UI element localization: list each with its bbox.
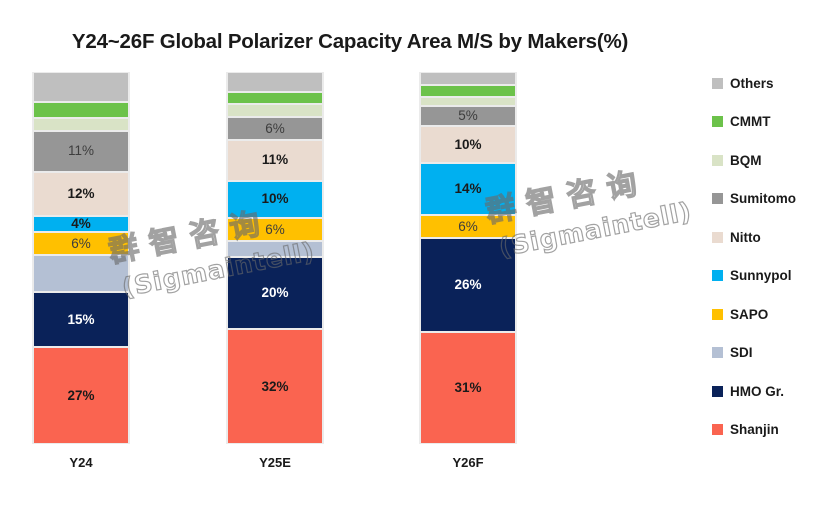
legend-label: Sunnypol — [730, 268, 792, 283]
bar-stack[interactable]: 27%15%6%4%12%11% — [32, 72, 130, 444]
legend-label: Nitto — [730, 230, 761, 245]
legend-swatch-icon — [712, 78, 723, 89]
bar-segment[interactable]: 26% — [419, 238, 517, 332]
bar-group-y24: 27%15%6%4%12%11% — [32, 72, 130, 444]
legend-item[interactable]: SAPO — [712, 295, 796, 334]
legend-swatch-icon — [712, 347, 723, 358]
bar-segment[interactable]: 15% — [32, 292, 130, 347]
bar-segment-value: 6% — [265, 223, 285, 237]
bar-segment-value: 5% — [458, 109, 478, 123]
bar-segment-value: 4% — [71, 217, 91, 231]
legend-swatch-icon — [712, 155, 723, 166]
legend-label: SAPO — [730, 307, 768, 322]
legend-label: BQM — [730, 153, 762, 168]
bar-segment-value: 14% — [454, 182, 481, 196]
legend-swatch-icon — [712, 193, 723, 204]
bar-segment-value: 27% — [67, 389, 94, 403]
bar-segment-value: 31% — [454, 381, 481, 395]
legend-item[interactable]: Sumitomo — [712, 180, 796, 219]
bar-segment[interactable]: 32% — [226, 329, 324, 444]
bar-segment-value: 6% — [71, 237, 91, 251]
x-axis-label-y24: Y24 — [32, 455, 130, 470]
bar-segment-value: 11% — [262, 153, 288, 167]
bar-segment[interactable] — [419, 97, 517, 106]
chart-title: Y24~26F Global Polarizer Capacity Area M… — [0, 30, 700, 54]
legend-item[interactable]: Shanjin — [712, 411, 796, 450]
bar-segment[interactable]: 12% — [32, 172, 130, 216]
bar-stack[interactable]: 31%26%6%14%10%5% — [419, 72, 517, 444]
x-axis-label-y26f: Y26F — [419, 455, 517, 470]
bar-segment-value: 6% — [265, 122, 285, 136]
bar-segment-value: 26% — [454, 278, 481, 292]
legend-swatch-icon — [712, 232, 723, 243]
bar-segment[interactable] — [32, 255, 130, 292]
bar-segment[interactable] — [32, 118, 130, 131]
bar-stack[interactable]: 32%20%6%10%11%6% — [226, 72, 324, 444]
bar-segment-value: 11% — [68, 144, 94, 158]
legend-item[interactable]: BQM — [712, 141, 796, 180]
bar-segment[interactable]: 11% — [32, 131, 130, 172]
legend-item[interactable]: Nitto — [712, 218, 796, 257]
plot-area: 27%15%6%4%12%11% 32%20%6%10%11%6% 31%26%… — [0, 72, 700, 444]
bar-segment[interactable] — [226, 72, 324, 92]
stacked-bar-chart: Y24~26F Global Polarizer Capacity Area M… — [0, 0, 834, 513]
bar-segment-value: 15% — [67, 313, 94, 327]
legend-swatch-icon — [712, 116, 723, 127]
bar-segment[interactable]: 6% — [419, 215, 517, 238]
bar-segment[interactable] — [226, 92, 324, 105]
bar-segment[interactable] — [32, 72, 130, 102]
bar-segment[interactable]: 20% — [226, 257, 324, 329]
bar-segment[interactable]: 6% — [226, 117, 324, 140]
legend-label: CMMT — [730, 114, 771, 129]
bar-segment[interactable] — [226, 241, 324, 257]
bar-segment-value: 10% — [454, 138, 481, 152]
bar-segment[interactable] — [419, 85, 517, 98]
legend-label: Sumitomo — [730, 191, 796, 206]
bar-segment[interactable]: 27% — [32, 347, 130, 444]
legend-swatch-icon — [712, 386, 723, 397]
legend-label: Others — [730, 76, 774, 91]
legend-item[interactable]: SDI — [712, 334, 796, 373]
bar-segment-value: 6% — [458, 220, 478, 234]
bar-segment[interactable] — [419, 72, 517, 85]
legend-label: HMO Gr. — [730, 384, 784, 399]
bar-segment[interactable]: 31% — [419, 332, 517, 444]
bar-segment[interactable]: 6% — [226, 218, 324, 241]
legend-item[interactable]: CMMT — [712, 103, 796, 142]
x-axis-label-y25e: Y25E — [226, 455, 324, 470]
bar-segment[interactable]: 10% — [419, 126, 517, 163]
chart-legend: OthersCMMTBQMSumitomoNittoSunnypolSAPOSD… — [712, 64, 796, 449]
bar-segment[interactable] — [32, 102, 130, 118]
bar-segment-value: 20% — [261, 286, 288, 300]
bar-segment[interactable]: 11% — [226, 140, 324, 181]
bar-segment[interactable]: 10% — [226, 181, 324, 218]
legend-item[interactable]: Sunnypol — [712, 257, 796, 296]
bar-segment-value: 10% — [261, 192, 288, 206]
legend-swatch-icon — [712, 270, 723, 281]
bar-group-y26f: 31%26%6%14%10%5% — [419, 72, 517, 444]
bar-segment[interactable]: 14% — [419, 163, 517, 215]
bar-segment[interactable]: 5% — [419, 106, 517, 126]
bar-segment-value: 32% — [261, 380, 288, 394]
legend-swatch-icon — [712, 309, 723, 320]
bar-segment[interactable] — [226, 104, 324, 117]
bar-segment[interactable]: 4% — [32, 216, 130, 232]
bar-group-y25e: 32%20%6%10%11%6% — [226, 72, 324, 444]
bar-segment[interactable]: 6% — [32, 232, 130, 255]
legend-swatch-icon — [712, 424, 723, 435]
legend-item[interactable]: HMO Gr. — [712, 372, 796, 411]
legend-item[interactable]: Others — [712, 64, 796, 103]
legend-label: Shanjin — [730, 422, 779, 437]
legend-label: SDI — [730, 345, 753, 360]
bar-segment-value: 12% — [67, 187, 94, 201]
